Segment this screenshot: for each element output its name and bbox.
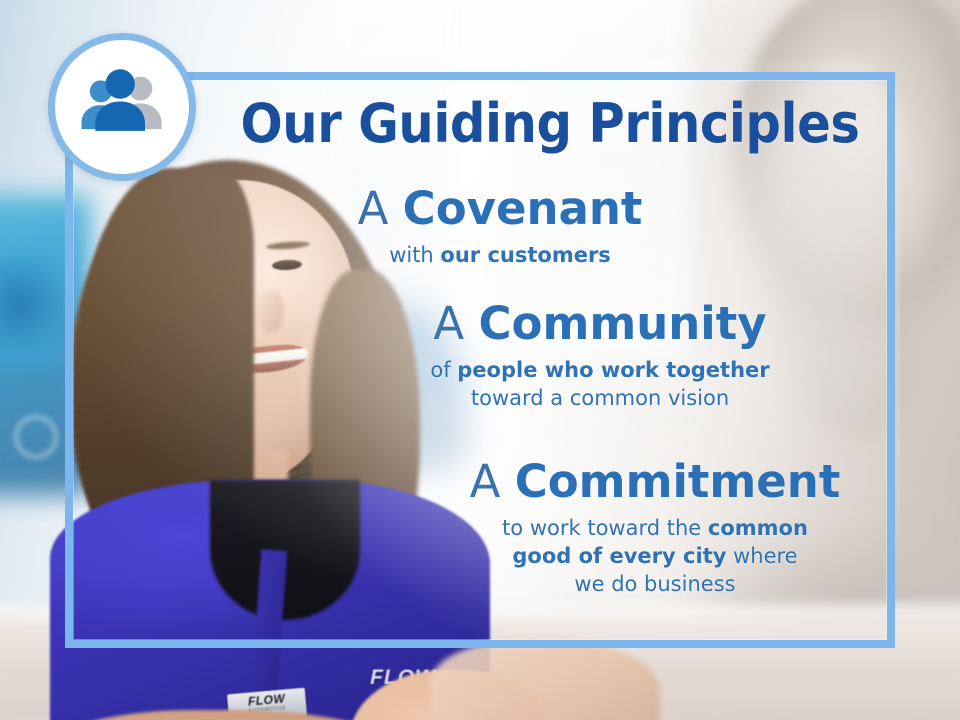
photo-car-emblem [14, 415, 58, 459]
principle-commitment-heading: A Commitment [430, 458, 880, 506]
principle-commitment-keyword: Commitment [515, 455, 841, 508]
principle-covenant-keyword: Covenant [403, 182, 643, 235]
principle-community-article: A [433, 297, 464, 350]
principle-covenant: A Covenant with our customers [300, 185, 700, 270]
principle-community-subtext: of people who work togethertoward a comm… [370, 357, 830, 413]
principle-commitment-article: A [470, 455, 501, 508]
principle-covenant-article: A [358, 182, 389, 235]
photo-showroom-display-glow [0, 255, 60, 365]
people-group-icon [76, 61, 168, 153]
principle-community-keyword: Community [479, 297, 767, 350]
principle-commitment-subtext: to work toward the commongood of every c… [430, 515, 880, 599]
principle-community: A Community of people who work togethert… [370, 300, 830, 413]
principle-community-heading: A Community [370, 300, 830, 348]
principle-commitment: A Commitment to work toward the commongo… [430, 458, 880, 598]
principle-covenant-subtext: with our customers [300, 242, 700, 270]
principle-covenant-heading: A Covenant [300, 185, 700, 233]
people-group-badge [48, 33, 196, 181]
page-title: Our Guiding Principles [233, 92, 868, 155]
